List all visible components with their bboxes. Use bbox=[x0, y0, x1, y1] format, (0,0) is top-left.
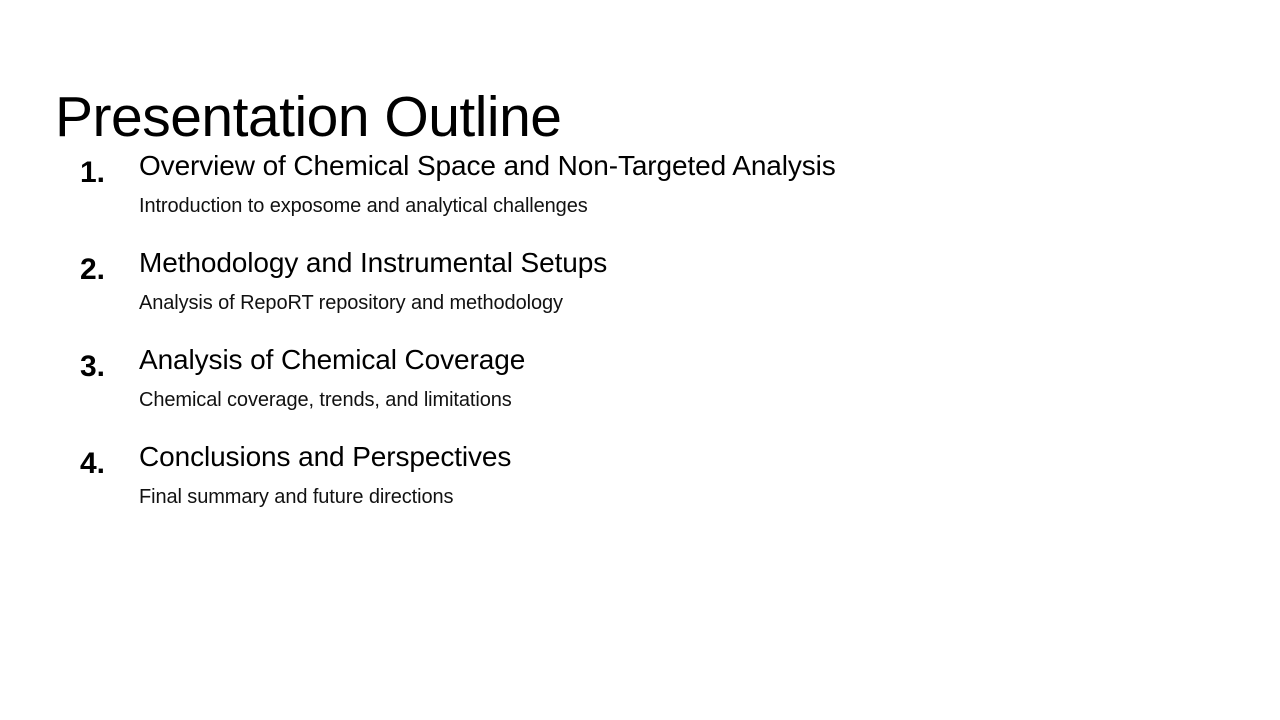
list-item-subtitle: Analysis of RepoRT repository and method… bbox=[139, 279, 1280, 315]
list-item-subtitle: Introduction to exposome and analytical … bbox=[139, 182, 1280, 218]
list-item[interactable]: 3. Analysis of Chemical Coverage Chemica… bbox=[0, 337, 1280, 434]
page-title: Presentation Outline bbox=[55, 86, 561, 150]
list-item-heading: Methodology and Instrumental Setups bbox=[139, 240, 1280, 279]
list-item-heading: Overview of Chemical Space and Non-Targe… bbox=[139, 143, 1280, 182]
list-item[interactable]: 2. Methodology and Instrumental Setups A… bbox=[0, 240, 1280, 337]
list-item-body: Conclusions and Perspectives Final summa… bbox=[105, 434, 1280, 509]
list-item-number: 4. bbox=[0, 434, 105, 479]
list-item-body: Analysis of Chemical Coverage Chemical c… bbox=[105, 337, 1280, 412]
list-item[interactable]: 4. Conclusions and Perspectives Final su… bbox=[0, 434, 1280, 531]
list-item-body: Methodology and Instrumental Setups Anal… bbox=[105, 240, 1280, 315]
list-item-subtitle: Final summary and future directions bbox=[139, 473, 1280, 509]
list-item[interactable]: 1. Overview of Chemical Space and Non-Ta… bbox=[0, 143, 1280, 240]
list-item-heading: Analysis of Chemical Coverage bbox=[139, 337, 1280, 376]
list-item-body: Overview of Chemical Space and Non-Targe… bbox=[105, 143, 1280, 218]
list-item-number: 3. bbox=[0, 337, 105, 382]
list-item-heading: Conclusions and Perspectives bbox=[139, 434, 1280, 473]
presentation-slide: Presentation Outline 1. Overview of Chem… bbox=[0, 0, 1280, 720]
list-item-subtitle: Chemical coverage, trends, and limitatio… bbox=[139, 376, 1280, 412]
outline-list: 1. Overview of Chemical Space and Non-Ta… bbox=[0, 143, 1280, 531]
list-item-number: 2. bbox=[0, 240, 105, 285]
list-item-number: 1. bbox=[0, 143, 105, 188]
